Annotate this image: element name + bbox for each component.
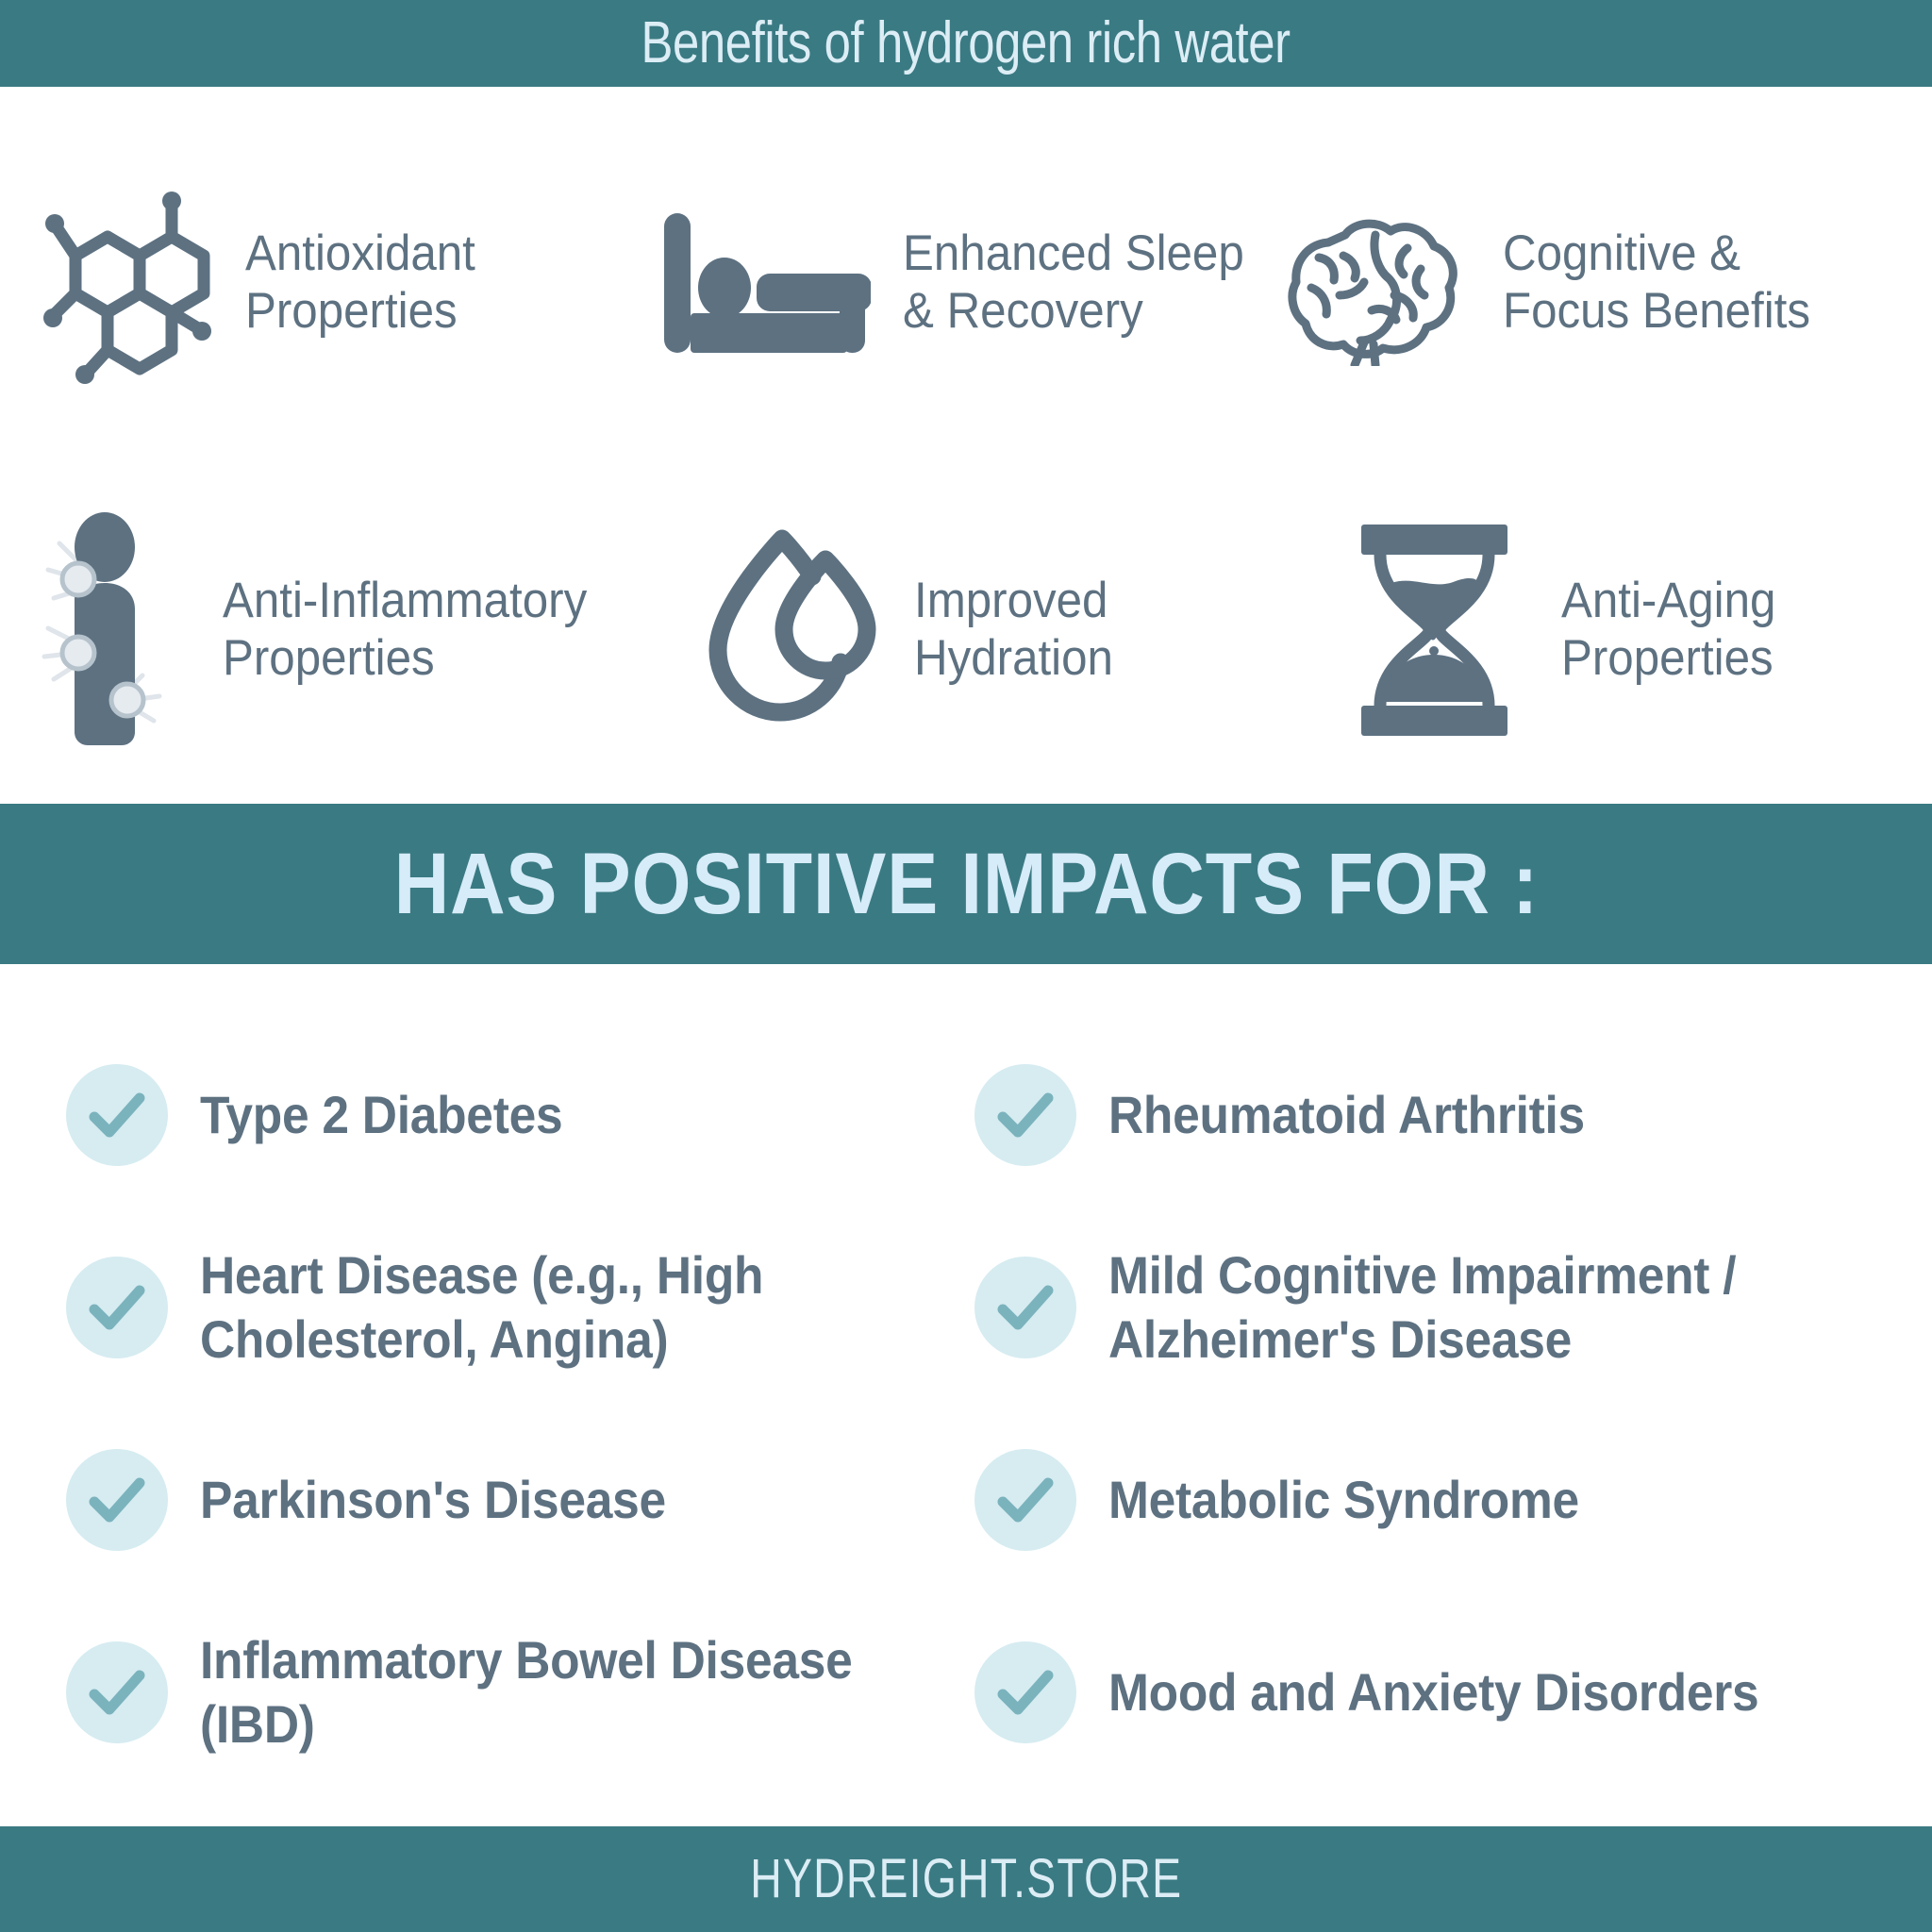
molecule-icon bbox=[32, 175, 221, 391]
check-icon bbox=[66, 1257, 168, 1358]
benefit-label: Anti-Aging Properties bbox=[1561, 573, 1876, 688]
check-icon bbox=[66, 1641, 168, 1743]
benefit-item-sleep: Enhanced Sleep & Recovery bbox=[652, 109, 1281, 457]
check-icon bbox=[974, 1064, 1076, 1166]
water-drops-icon bbox=[705, 522, 893, 739]
infographic-poster: Benefits of hydrogen rich water bbox=[0, 0, 1932, 1932]
check-icon bbox=[974, 1257, 1076, 1358]
list-item: Type 2 Diabetes bbox=[66, 1019, 958, 1211]
bed-sleep-icon bbox=[652, 189, 878, 377]
impacts-banner: HAS POSITIVE IMPACTS FOR : bbox=[0, 804, 1932, 964]
list-item-label: Parkinson's Disease bbox=[200, 1468, 666, 1532]
benefit-label: Cognitive & Focus Benefits bbox=[1503, 225, 1872, 341]
benefit-label: Anti-Inflammatory Properties bbox=[223, 573, 613, 688]
list-item: Rheumatoid Arthritis bbox=[974, 1019, 1866, 1211]
inflammation-person-icon bbox=[36, 503, 215, 758]
benefit-label: Enhanced Sleep & Recovery bbox=[903, 225, 1245, 341]
benefit-item-antioxidant: Antioxidant Properties bbox=[23, 109, 652, 457]
check-icon bbox=[66, 1064, 168, 1166]
check-icon bbox=[974, 1641, 1076, 1743]
footer-store-url: HYDREIGHT.STORE bbox=[750, 1852, 1182, 1907]
list-item: Mild Cognitive Impairment / Alzheimer's … bbox=[974, 1211, 1866, 1404]
list-item: Parkinson's Disease bbox=[66, 1404, 958, 1596]
list-item-label: Mild Cognitive Impairment / Alzheimer's … bbox=[1108, 1243, 1806, 1373]
page-title: Benefits of hydrogen rich water bbox=[641, 14, 1291, 73]
benefit-item-anti-aging: Anti-Aging Properties bbox=[1280, 457, 1909, 804]
brain-icon bbox=[1280, 198, 1478, 368]
impacts-heading: HAS POSITIVE IMPACTS FOR : bbox=[393, 841, 1538, 927]
list-item: Heart Disease (e.g., High Cholesterol, A… bbox=[66, 1211, 958, 1404]
benefits-grid: Antioxidant Properties Enhanced Slee bbox=[0, 87, 1932, 804]
benefit-label: Antioxidant Properties bbox=[245, 225, 614, 341]
list-item: Inflammatory Bowel Disease (IBD) bbox=[66, 1596, 958, 1789]
impacts-checklist: Type 2 Diabetes Rheumatoid Arthritis Hea… bbox=[0, 964, 1932, 1826]
benefit-item-hydration: Improved Hydration bbox=[652, 457, 1281, 804]
benefit-label: Improved Hydration bbox=[914, 573, 1246, 688]
check-icon bbox=[66, 1449, 168, 1551]
list-item-label: Heart Disease (e.g., High Cholesterol, A… bbox=[200, 1243, 897, 1373]
list-item-label: Inflammatory Bowel Disease (IBD) bbox=[200, 1628, 897, 1757]
footer-band: HYDREIGHT.STORE bbox=[0, 1826, 1932, 1932]
benefit-item-anti-inflammatory: Anti-Inflammatory Properties bbox=[23, 457, 652, 804]
list-item: Metabolic Syndrome bbox=[974, 1404, 1866, 1596]
header-band: Benefits of hydrogen rich water bbox=[0, 0, 1932, 87]
benefit-item-cognitive: Cognitive & Focus Benefits bbox=[1280, 109, 1909, 457]
list-item: Mood and Anxiety Disorders bbox=[974, 1596, 1866, 1789]
hourglass-icon bbox=[1335, 512, 1533, 748]
list-item-label: Rheumatoid Arthritis bbox=[1108, 1083, 1585, 1147]
list-item-label: Type 2 Diabetes bbox=[200, 1083, 562, 1147]
check-icon bbox=[974, 1449, 1076, 1551]
list-item-label: Metabolic Syndrome bbox=[1108, 1468, 1579, 1532]
list-item-label: Mood and Anxiety Disorders bbox=[1108, 1660, 1758, 1724]
